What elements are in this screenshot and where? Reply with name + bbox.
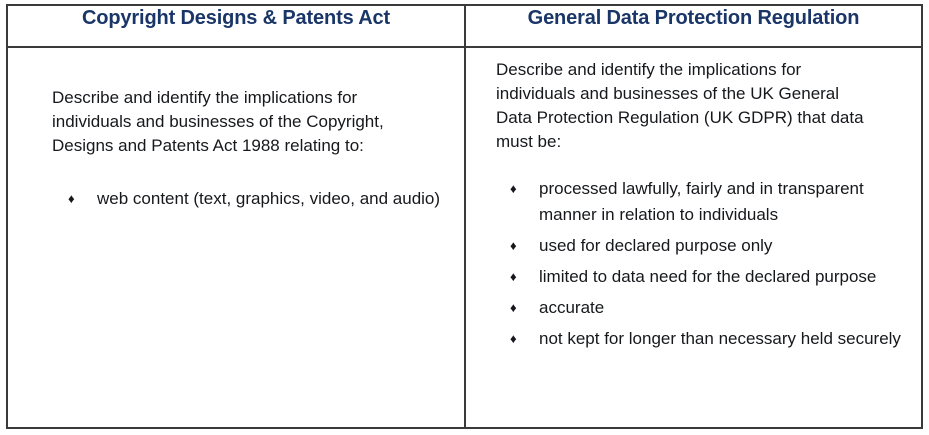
copyright-cell-content: Describe and identify the implications f… <box>8 48 464 427</box>
table-body-row: Describe and identify the implications f… <box>7 47 922 428</box>
list-item-label: not kept for longer than necessary held … <box>539 329 901 348</box>
copyright-intro-paragraph: Describe and identify the implications f… <box>52 86 422 158</box>
column-header-gdpr-label: General Data Protection Regulation <box>466 6 921 30</box>
list-item: ♦ limited to data need for the declared … <box>510 264 903 290</box>
list-item: ♦ not kept for longer than necessary hel… <box>510 326 903 352</box>
comparison-table: Copyright Designs & Patents Act General … <box>6 4 923 429</box>
table-header-cell-copyright: Copyright Designs & Patents Act <box>7 5 465 47</box>
diamond-bullet-icon: ♦ <box>510 295 517 321</box>
copyright-bullet-list: ♦ web content (text, graphics, video, an… <box>52 186 450 212</box>
diamond-bullet-icon: ♦ <box>510 176 517 202</box>
table-header-cell-gdpr: General Data Protection Regulation <box>465 5 922 47</box>
gdpr-cell-content: Describe and identify the implications f… <box>466 48 921 427</box>
gdpr-bullet-list: ♦ processed lawfully, fairly and in tran… <box>496 176 907 352</box>
diamond-bullet-icon: ♦ <box>510 264 517 290</box>
list-item: ♦ processed lawfully, fairly and in tran… <box>510 176 903 228</box>
diamond-bullet-icon: ♦ <box>510 326 517 352</box>
list-item-label: web content (text, graphics, video, and … <box>97 189 440 208</box>
list-item-label: processed lawfully, fairly and in transp… <box>539 179 864 224</box>
document-page: Copyright Designs & Patents Act General … <box>0 0 929 435</box>
table-cell-gdpr: Describe and identify the implications f… <box>465 47 922 428</box>
diamond-bullet-icon: ♦ <box>510 233 517 259</box>
list-item: ♦ accurate <box>510 295 903 321</box>
diamond-bullet-icon: ♦ <box>68 186 75 212</box>
list-item: ♦ web content (text, graphics, video, an… <box>68 186 449 212</box>
list-item-label: used for declared purpose only <box>539 236 772 255</box>
list-item: ♦ used for declared purpose only <box>510 233 903 259</box>
column-header-copyright-label: Copyright Designs & Patents Act <box>8 6 464 30</box>
gdpr-intro-paragraph: Describe and identify the implications f… <box>496 58 876 154</box>
table-cell-copyright: Describe and identify the implications f… <box>7 47 465 428</box>
list-item-label: limited to data need for the declared pu… <box>539 267 876 286</box>
table-header-row: Copyright Designs & Patents Act General … <box>7 5 922 47</box>
list-item-label: accurate <box>539 298 604 317</box>
